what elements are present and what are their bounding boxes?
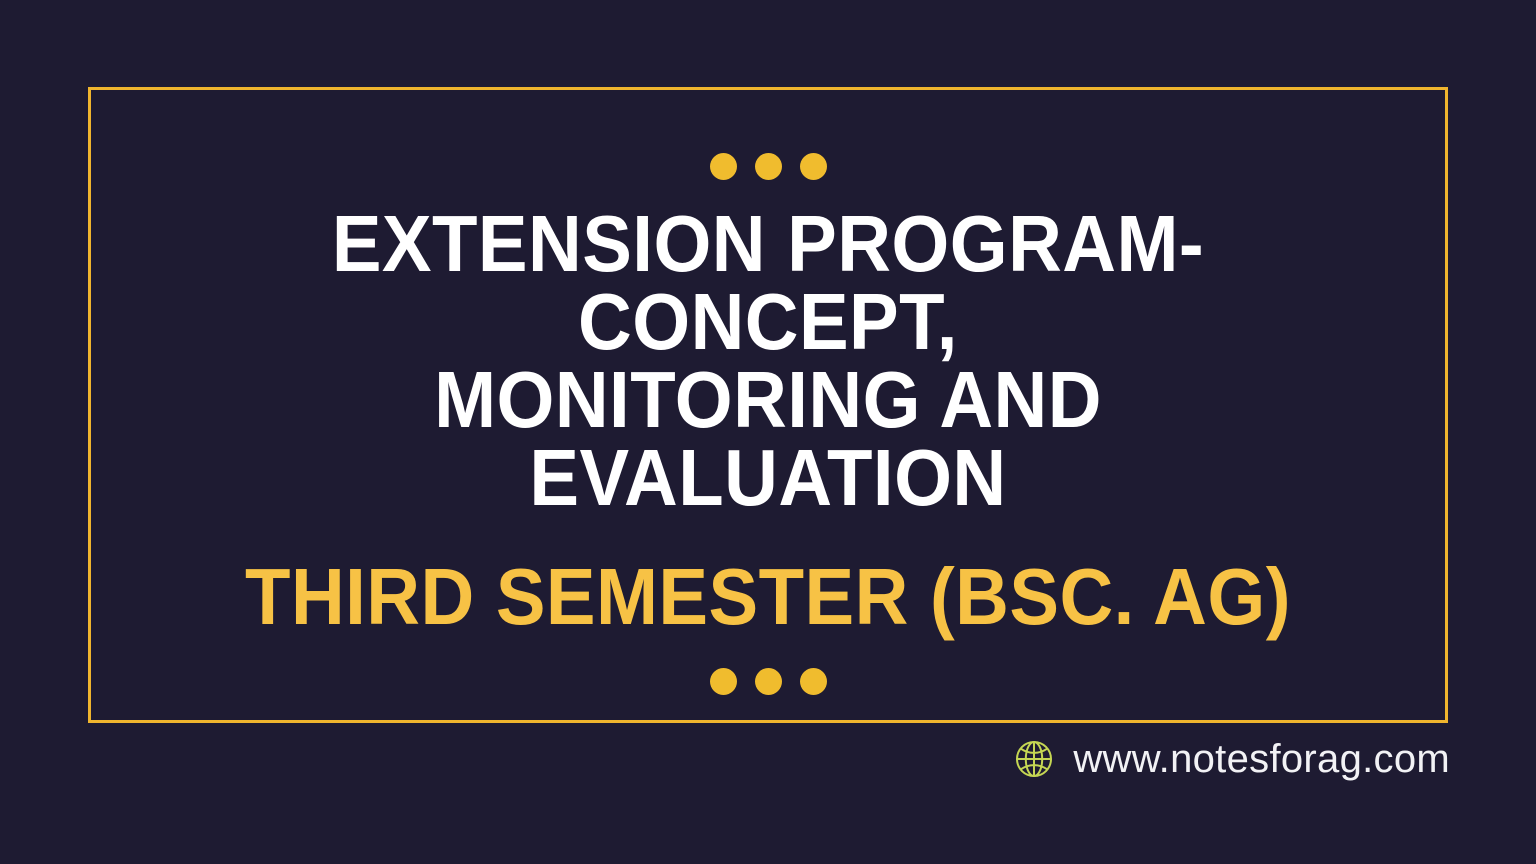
dot-decoration-icon	[755, 668, 782, 695]
page-subtitle: THIRD SEMESTER (BSC. AG)	[136, 517, 1401, 637]
dot-decoration-icon	[800, 153, 827, 180]
globe-icon	[1012, 737, 1056, 781]
footer-website-credit: www.notesforag.com	[1012, 737, 1450, 781]
dot-decoration-icon	[755, 153, 782, 180]
dot-decoration-icon	[710, 153, 737, 180]
page-title: EXTENSION PROGRAM- CONCEPT, MONITORING A…	[136, 205, 1401, 517]
title-slide: EXTENSION PROGRAM- CONCEPT, MONITORING A…	[0, 0, 1536, 864]
dot-decoration-icon	[800, 668, 827, 695]
top-dot-decoration	[0, 153, 1536, 180]
bottom-dot-decoration	[0, 668, 1536, 695]
headline-block: EXTENSION PROGRAM- CONCEPT, MONITORING A…	[88, 205, 1448, 637]
dot-decoration-icon	[710, 668, 737, 695]
website-url-text: www.notesforag.com	[1073, 737, 1450, 781]
